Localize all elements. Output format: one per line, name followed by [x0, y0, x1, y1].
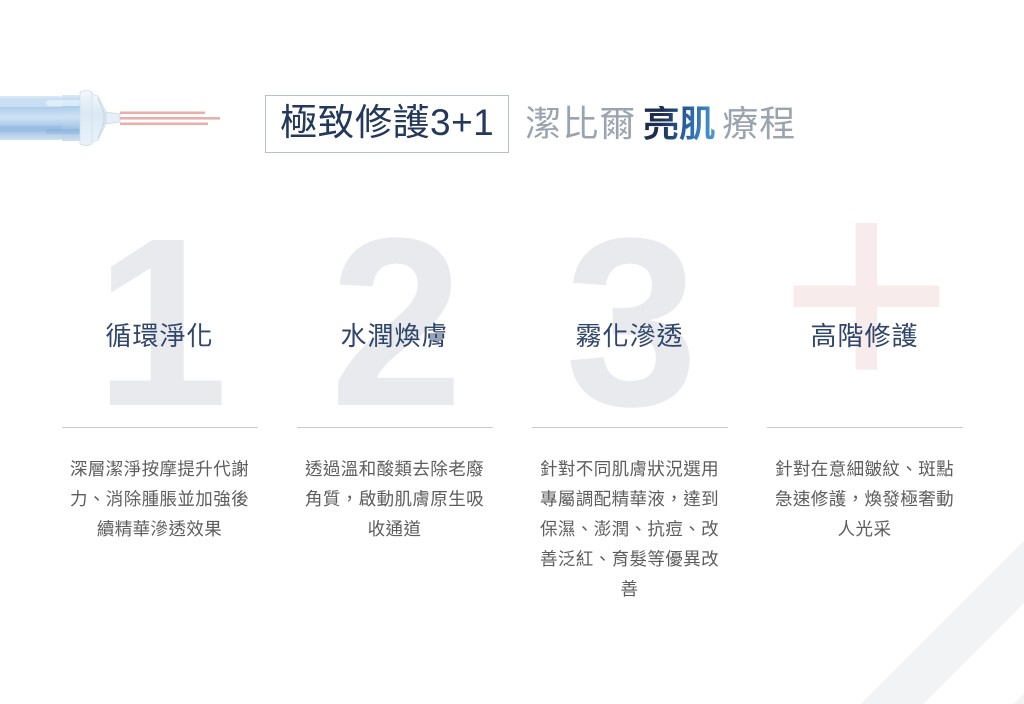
step-column-3: 3 霧化滲透 針對不同肌膚狀況選用專屬調配精華液，達到保濕、澎潤、抗痘、改善泛紅…: [512, 210, 747, 604]
title-suffix: 療程: [722, 106, 796, 142]
step-body-4: 針對在意細皺紋、斑點急速修護，煥發極奢動人光采: [767, 454, 963, 544]
step-column-2: 2 水潤煥膚 透過溫和酸類去除老廢角質，啟動肌膚原生吸收通道: [277, 210, 512, 604]
step-divider-4: [767, 427, 963, 428]
step-heading-2: 水潤煥膚: [277, 210, 512, 349]
step-divider-3: [532, 427, 728, 428]
title-badge: 極致修護3+1: [265, 95, 509, 153]
step-column-1: 1 循環淨化 深層潔淨按摩提升代謝力、消除腫脹並加強後續精華滲透效果: [42, 210, 277, 604]
title-brand: 潔比爾: [525, 106, 636, 142]
page-header: 極致修護3+1 潔比爾 亮肌 療程: [0, 93, 1024, 155]
step-column-4: + 高階修護 針對在意細皺紋、斑點急速修護，煥發極奢動人光采: [747, 210, 982, 604]
step-body-1: 深層潔淨按摩提升代謝力、消除腫脹並加強後續精華滲透效果: [62, 454, 258, 544]
step-divider-1: [62, 427, 258, 428]
step-divider-2: [297, 427, 493, 428]
page-title: 潔比爾 亮肌 療程: [525, 106, 796, 142]
step-heading-1: 循環淨化: [42, 210, 277, 349]
slide-canvas: 極致修護3+1 潔比爾 亮肌 療程 1 循環淨化 深層潔淨按摩提升代謝力、消除腫…: [0, 0, 1024, 704]
step-body-3: 針對不同肌膚狀況選用專屬調配精華液，達到保濕、澎潤、抗痘、改善泛紅、育髮等優異改…: [532, 454, 728, 604]
steps-container: 1 循環淨化 深層潔淨按摩提升代謝力、消除腫脹並加強後續精華滲透效果 2 水潤煥…: [42, 210, 982, 604]
title-badge-text: 極致修護3+1: [280, 104, 494, 141]
step-heading-3: 霧化滲透: [512, 210, 747, 349]
step-heading-4: 高階修護: [747, 210, 982, 349]
title-accent: 亮肌: [643, 106, 715, 142]
step-body-2: 透過溫和酸類去除老廢角質，啟動肌膚原生吸收通道: [297, 454, 493, 544]
